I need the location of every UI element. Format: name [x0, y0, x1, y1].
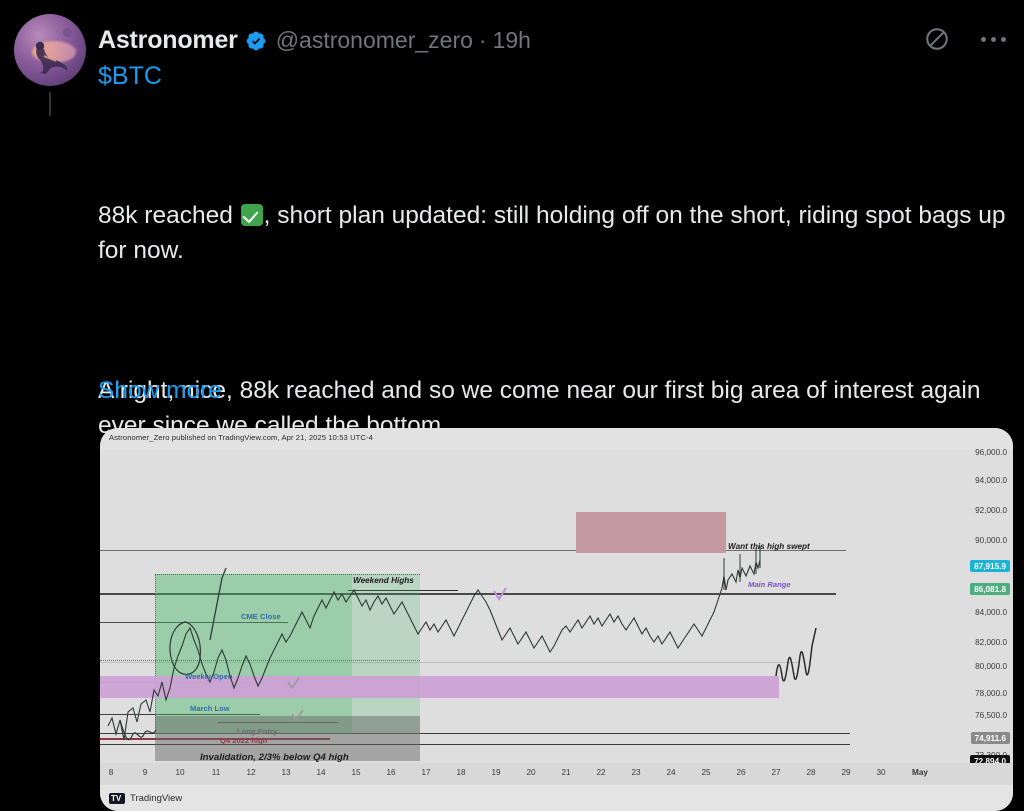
y-tick-78000: 78,000.0: [975, 689, 1007, 698]
display-name[interactable]: Astronomer: [98, 26, 238, 55]
x-tick-28: 28: [806, 768, 815, 777]
x-tick-13: 13: [281, 768, 290, 777]
cashtag-link[interactable]: $BTC: [98, 62, 162, 91]
chart-card[interactable]: Astronomer_Zero published on TradingView…: [100, 428, 1013, 811]
x-tick-30: 30: [876, 768, 885, 777]
more-options-button[interactable]: [976, 22, 1010, 56]
y-tick-74911: 74,911.6: [971, 732, 1010, 744]
y-tick-84000: 84,000.0: [975, 608, 1007, 617]
tweet-paragraph-1: 88k reached , short plan updated: still …: [98, 198, 1024, 268]
x-tick-12: 12: [246, 768, 255, 777]
price-series-path: [100, 450, 952, 768]
x-tick-14: 14: [316, 768, 325, 777]
avatar-image: [14, 14, 86, 86]
y-tick-last-price: 87,915.9: [970, 560, 1010, 572]
tradingview-logo-icon: [109, 793, 125, 804]
annotation-invalidation: Invalidation, 2/3% below Q4 high: [200, 752, 349, 763]
x-tick-22: 22: [596, 768, 605, 777]
annotation-main-range: Main Range: [748, 580, 791, 589]
x-tick-11: 11: [212, 768, 221, 777]
white-check-mark-emoji: [241, 204, 263, 226]
planet-crater-icon: [63, 28, 72, 37]
annotation-long-entry: Long Entry: [237, 727, 277, 736]
x-tick-19: 19: [491, 768, 500, 777]
paragraph-1-part-a: 88k reached: [98, 202, 240, 229]
x-tick-29: 29: [841, 768, 850, 777]
tweet-header: Astronomer @astronomer_zero · 19h: [0, 0, 1024, 110]
circle-slash-icon: [924, 26, 950, 52]
separator-dot: ·: [479, 27, 487, 54]
annotation-want-this-high-swept: Want this high swept: [728, 542, 810, 551]
y-tick-96000: 96,000.0: [975, 448, 1007, 457]
x-tick-10: 10: [175, 768, 184, 777]
x-tick-18: 18: [456, 768, 465, 777]
x-tick-16: 16: [386, 768, 395, 777]
author-handle[interactable]: @astronomer_zero: [276, 27, 473, 54]
not-interested-button[interactable]: [920, 22, 954, 56]
y-tick-94000: 94,000.0: [975, 476, 1007, 485]
annotation-cme-close: CME Close: [241, 612, 281, 621]
x-tick-15: 15: [351, 768, 360, 777]
thread-connector: [49, 92, 51, 116]
x-tick-8: 8: [109, 768, 114, 777]
annotation-weekend-highs: Weekend Highs: [353, 576, 414, 585]
chart-publisher-line: Astronomer_Zero published on TradingView…: [109, 433, 373, 442]
annotation-q4-2022-high: Q4 2022 high: [220, 736, 267, 745]
tweet-container: Astronomer @astronomer_zero · 19h: [0, 0, 1024, 811]
x-tick-17: 17: [421, 768, 430, 777]
x-tick-24: 24: [666, 768, 675, 777]
x-tick-23: 23: [631, 768, 640, 777]
more-horizontal-icon: [981, 37, 1006, 42]
y-tick-86081: 86,081.8: [970, 583, 1010, 595]
x-tick-may: May: [912, 768, 928, 777]
x-tick-25: 25: [701, 768, 710, 777]
verified-badge-icon: [245, 30, 267, 52]
avatar[interactable]: [14, 14, 86, 86]
y-tick-82000: 82,000.0: [975, 638, 1007, 647]
chart-footer: TradingView: [100, 785, 1013, 811]
astronaut-icon: [30, 40, 74, 78]
time-axis[interactable]: 8 9 10 11 12 13 14 15 16 17 18 19 20 21 …: [100, 763, 1013, 785]
tradingview-brand-label: TradingView: [130, 793, 182, 804]
price-axis[interactable]: 96,000.0 94,000.0 92,000.0 90,000.0 87,9…: [952, 450, 1013, 768]
y-tick-80000: 80,000.0: [975, 662, 1007, 671]
x-tick-27: 27: [771, 768, 780, 777]
annotation-weekly-open: Weekly Open: [185, 672, 233, 681]
header-actions: [920, 22, 1010, 56]
x-tick-26: 26: [736, 768, 745, 777]
chart-plot-area[interactable]: Want this high swept Main Range Weekend …: [100, 450, 952, 768]
annotation-march-low: March Low: [190, 704, 230, 713]
x-tick-20: 20: [526, 768, 535, 777]
x-tick-21: 21: [561, 768, 570, 777]
show-more-link[interactable]: Show more: [98, 377, 222, 405]
y-tick-76500: 76,500.0: [975, 711, 1007, 720]
timestamp[interactable]: 19h: [493, 27, 531, 54]
y-tick-92000: 92,000.0: [975, 506, 1007, 515]
y-tick-90000: 90,000.0: [975, 536, 1007, 545]
x-tick-9: 9: [143, 768, 148, 777]
author-row: Astronomer @astronomer_zero · 19h: [98, 26, 531, 55]
